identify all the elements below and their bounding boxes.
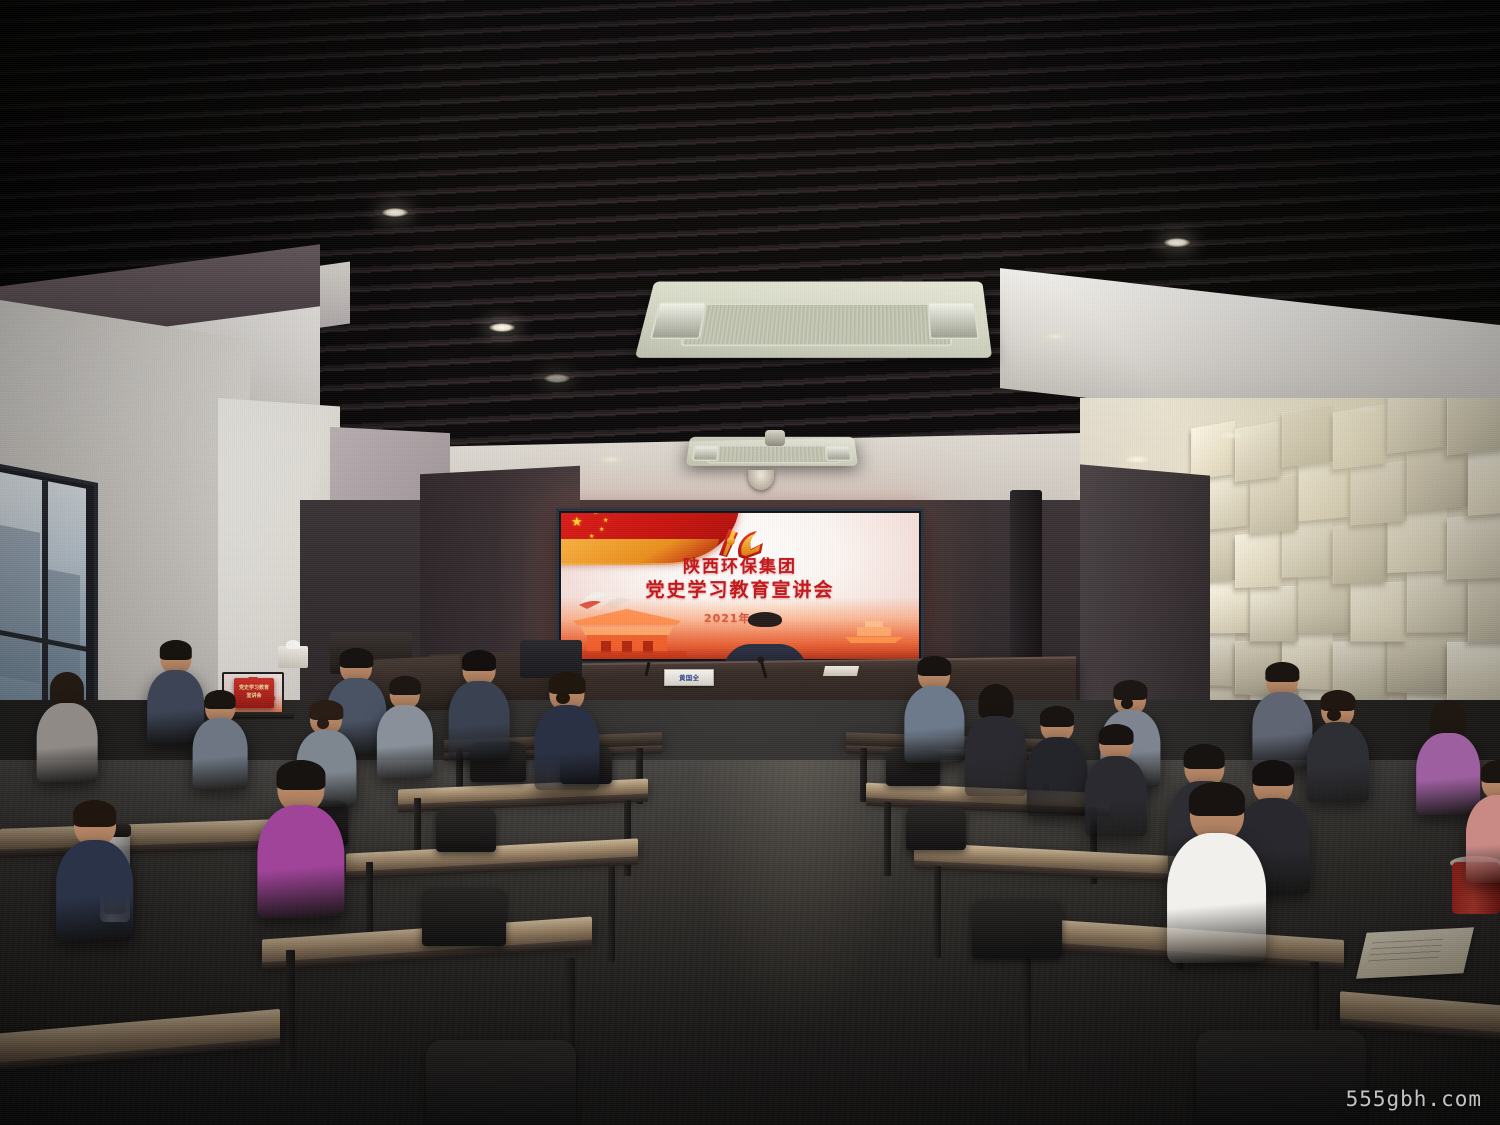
person-hair xyxy=(1266,662,1299,682)
acoustic-panel-square xyxy=(1468,445,1500,516)
notebook-lines xyxy=(1367,939,1443,965)
person-torso xyxy=(1027,737,1088,816)
audience-member xyxy=(1310,690,1365,808)
slide-org-name: 陕西环保集团 xyxy=(561,557,919,578)
person-hair xyxy=(1040,706,1074,727)
acoustic-panel-square xyxy=(1250,474,1298,534)
speaker-column xyxy=(1010,490,1042,670)
person-hair xyxy=(1430,700,1466,735)
chair-back xyxy=(972,900,1062,958)
ceiling-downlight xyxy=(598,455,624,464)
acoustic-panel-square xyxy=(1191,421,1235,480)
name-placard: 黄国全 xyxy=(664,669,714,686)
ceiling-sensor xyxy=(765,430,785,446)
person-torso xyxy=(257,805,344,918)
chair-back-foreground xyxy=(426,1040,576,1125)
acoustic-panel-square xyxy=(1250,586,1298,642)
person-hair xyxy=(978,684,1013,718)
person-hair xyxy=(205,690,236,709)
acoustic-panel-square xyxy=(1351,461,1407,526)
person-hair xyxy=(549,672,586,694)
person-hair xyxy=(50,672,84,705)
audience-member xyxy=(1088,724,1143,842)
chair-back xyxy=(422,888,506,946)
person-torso xyxy=(377,705,433,778)
ceiling-downlight xyxy=(382,208,408,217)
person-hair xyxy=(160,640,192,660)
person-torso xyxy=(534,705,599,789)
acoustic-panel-square xyxy=(1333,403,1388,469)
audience-member xyxy=(60,800,129,947)
audience-member xyxy=(968,684,1023,802)
audience-member xyxy=(1256,662,1309,774)
audience-member xyxy=(1470,760,1500,889)
acoustic-panel-square xyxy=(1351,581,1407,641)
acoustic-panel-square xyxy=(1333,523,1388,585)
person-hair xyxy=(462,650,496,671)
person-hair xyxy=(1188,782,1244,816)
person-hair xyxy=(310,700,343,720)
acoustic-panel-square xyxy=(1447,642,1500,707)
audience-member xyxy=(40,672,94,787)
person-hair xyxy=(340,648,373,668)
audience-member xyxy=(150,640,201,749)
person-torso xyxy=(449,681,510,760)
ceiling-downlight xyxy=(544,374,570,383)
person-hair xyxy=(918,656,951,676)
person-torso xyxy=(193,718,248,789)
ceiling-downlight xyxy=(1164,238,1190,247)
person-hair xyxy=(1320,690,1355,711)
chair-back xyxy=(906,806,966,850)
ac-vent-right xyxy=(825,445,853,461)
person-torso xyxy=(56,840,134,941)
ceiling-downlight xyxy=(489,323,515,332)
wall-downlight xyxy=(1220,432,1242,439)
acoustic-panel-square xyxy=(1235,531,1282,588)
person-hair xyxy=(276,760,325,790)
tiananmen-gate-icon xyxy=(567,601,687,659)
audience-member-purple-polo xyxy=(262,760,340,925)
acoustic-panel-square xyxy=(1282,404,1333,468)
city-building xyxy=(0,524,40,684)
audience-member xyxy=(1420,700,1477,820)
ceiling-downlight xyxy=(1042,332,1068,341)
person-torso xyxy=(37,703,98,782)
ac-grille xyxy=(707,445,841,463)
acoustic-panel-square xyxy=(1388,398,1447,454)
person-torso xyxy=(1167,833,1267,963)
acoustic-panel-square xyxy=(1468,576,1500,642)
name-placard-label: 黄国全 xyxy=(679,673,699,682)
watermark: 555gbh.com xyxy=(1346,1087,1482,1111)
desk-leg xyxy=(286,950,295,1070)
wall-downlight xyxy=(1356,406,1378,413)
person-torso xyxy=(905,686,964,763)
audience-member xyxy=(1030,706,1084,821)
person-torso xyxy=(1466,795,1500,883)
open-notebook xyxy=(1356,927,1474,978)
tissue-puff xyxy=(286,640,300,649)
chair-back-foreground xyxy=(1196,1030,1366,1125)
audience-member xyxy=(452,650,506,765)
speaker-hair xyxy=(748,612,782,627)
audience-member-white-shirt xyxy=(1172,782,1261,971)
ac-grille xyxy=(680,303,952,347)
audience-member xyxy=(538,672,596,795)
person-hair xyxy=(1098,724,1133,745)
desk-leg xyxy=(934,866,941,958)
desk-leg xyxy=(608,866,615,962)
ac-vent-right xyxy=(927,302,979,340)
tissue-box xyxy=(278,646,308,668)
audience-member xyxy=(908,656,961,768)
acoustic-panel-square xyxy=(1447,398,1500,456)
person-torso xyxy=(1307,722,1369,803)
person-torso xyxy=(965,716,1027,797)
desk-leg xyxy=(1022,950,1031,1070)
person-hair xyxy=(1114,680,1147,700)
acoustic-panel-square xyxy=(1447,512,1500,579)
person-torso xyxy=(1253,692,1312,769)
ac-vent-left xyxy=(650,302,707,340)
person-hair xyxy=(1184,744,1225,769)
book-on-desk xyxy=(823,666,859,676)
person-hair xyxy=(389,676,421,695)
person-hair xyxy=(73,800,117,827)
acoustic-panel-square xyxy=(1235,421,1282,482)
person-hair xyxy=(1481,760,1500,783)
person-torso xyxy=(1085,756,1147,837)
ac-vent-left xyxy=(692,445,720,461)
acoustic-panel-square xyxy=(1388,632,1447,694)
audience-member xyxy=(196,690,245,794)
audience-member xyxy=(380,676,430,782)
ceiling-ac-cassette xyxy=(635,281,992,357)
red-boat-icon xyxy=(841,619,907,645)
desk-leg xyxy=(884,802,891,876)
chair-back xyxy=(436,808,496,852)
wall-downlight xyxy=(1126,456,1148,463)
conference-room-photo: ★ ★ ★ ★ ★ xyxy=(0,0,1500,1125)
hair-bun xyxy=(1327,709,1340,721)
